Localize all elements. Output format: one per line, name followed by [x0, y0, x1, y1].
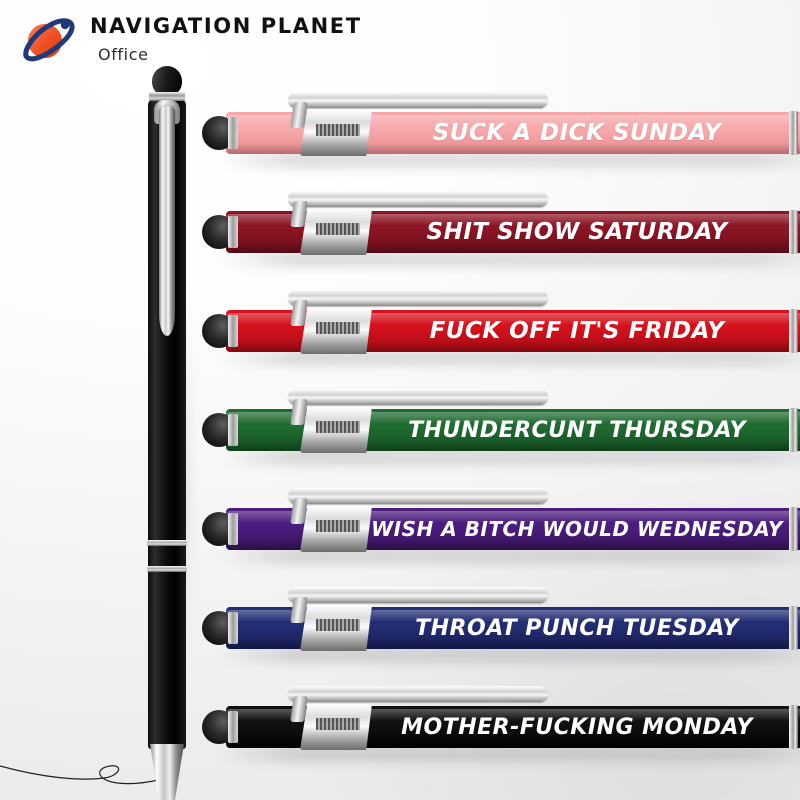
- pen-stylus-collar: [228, 513, 238, 545]
- pen-trim-ring: [789, 705, 798, 749]
- pen-clip: [288, 686, 548, 702]
- pen-stylus-collar: [228, 315, 238, 347]
- pen-label-text: THUNDERCUNT THURSDAY: [376, 409, 778, 451]
- product-image-canvas: NAVIGATION PLANET Office SUCK A DICK SUN…: [0, 0, 800, 800]
- pen-variant-monday[interactable]: MOTHER-FUCKING MONDAY: [196, 694, 800, 760]
- pen-stylus-collar: [228, 216, 238, 248]
- pen-grip-band: [316, 322, 360, 334]
- pen-label-text: WISH A BITCH WOULD WEDNESDAY: [376, 508, 778, 550]
- hero-pen-ring-lower: [147, 566, 187, 572]
- pen-label-text: THROAT PUNCH TUESDAY: [376, 607, 778, 649]
- hero-pen-ring-upper: [147, 540, 187, 546]
- hero-pen-clip: [159, 106, 175, 336]
- pen-variant-friday[interactable]: FUCK OFF IT'S FRIDAY: [196, 298, 800, 364]
- pen-clip: [288, 389, 548, 405]
- pen-trim-ring: [789, 210, 798, 254]
- brand-title: NAVIGATION PLANET: [90, 16, 362, 37]
- brand-text-block: NAVIGATION PLANET Office: [90, 10, 362, 63]
- pen-clip: [288, 191, 548, 207]
- pen-variant-sunday[interactable]: SUCK A DICK SUNDAY: [196, 100, 800, 166]
- pen-grip-band: [316, 223, 360, 235]
- pen-clip: [288, 488, 548, 504]
- pen-clip: [288, 290, 548, 306]
- pen-grip-band: [316, 718, 360, 730]
- pen-stylus-collar: [228, 711, 238, 743]
- pen-grip-band: [316, 124, 360, 136]
- pen-label-text: SHIT SHOW SATURDAY: [376, 211, 778, 253]
- pen-label-text: MOTHER-FUCKING MONDAY: [376, 706, 778, 748]
- pen-trim-ring: [789, 309, 798, 353]
- pen-grip-band: [316, 520, 360, 532]
- pen-stylus-collar: [228, 612, 238, 644]
- pen-trim-ring: [789, 606, 798, 650]
- pen-variant-thursday[interactable]: THUNDERCUNT THURSDAY: [196, 397, 800, 463]
- pen-variant-wednesday[interactable]: WISH A BITCH WOULD WEDNESDAY: [196, 496, 800, 562]
- pen-label-text: SUCK A DICK SUNDAY: [376, 112, 778, 154]
- pen-clip: [288, 587, 548, 603]
- pen-label-text: FUCK OFF IT'S FRIDAY: [376, 310, 778, 352]
- pen-clip: [288, 92, 548, 108]
- pen-grip-band: [316, 421, 360, 433]
- brand-header: NAVIGATION PLANET Office: [18, 10, 362, 74]
- pen-stylus-collar: [228, 414, 238, 446]
- pen-trim-ring: [789, 408, 798, 452]
- pen-trim-ring: [789, 111, 798, 155]
- pen-grip-band: [316, 619, 360, 631]
- brand-subtitle: Office: [98, 47, 362, 63]
- hero-pen-vertical: [132, 66, 200, 782]
- pen-trim-ring: [789, 507, 798, 551]
- pen-variant-saturday[interactable]: SHIT SHOW SATURDAY: [196, 199, 800, 265]
- pen-stylus-collar: [228, 117, 238, 149]
- pen-variant-tuesday[interactable]: THROAT PUNCH TUESDAY: [196, 595, 800, 661]
- planet-orbit-icon: [18, 12, 80, 74]
